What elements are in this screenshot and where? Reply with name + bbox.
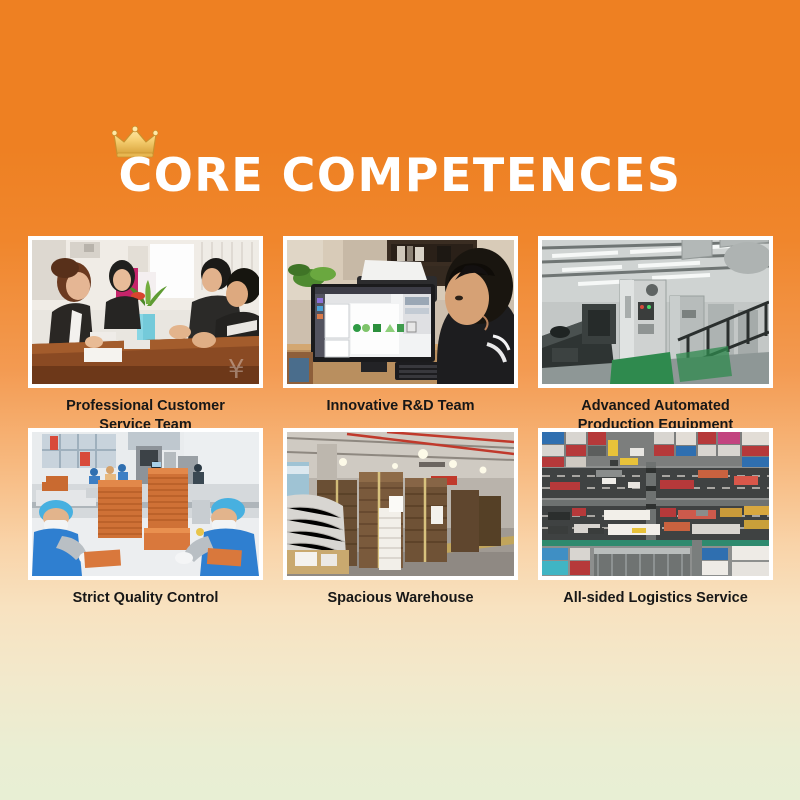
photo-warehouse-stacked-pallets [287, 432, 514, 576]
card-caption: Strict Quality Control [28, 580, 263, 630]
photo-frame: ¥ [28, 236, 263, 388]
photo-meeting-room-team: ¥ [32, 240, 259, 384]
card-caption: All-sided Logistics Service [538, 580, 773, 630]
photo-frame [538, 428, 773, 580]
photo-frame [283, 236, 518, 388]
caption-line-1: Professional Customer [28, 397, 263, 416]
photo-qc-workers-inspecting-boxes [32, 432, 259, 576]
competences-grid-row-1: ¥ Professional Customer Service Team [28, 236, 773, 438]
photo-frame [283, 428, 518, 580]
competence-card-all-sided-logistics-service[interactable]: All-sided Logistics Service [538, 428, 773, 630]
competence-card-advanced-automated-production-equipment[interactable]: LAND 800 [538, 236, 773, 438]
competence-card-spacious-warehouse[interactable]: Spacious Warehouse [283, 428, 518, 630]
title-with-crown: CORE COMPETENCES [118, 152, 681, 198]
caption-line-1: All-sided Logistics Service [538, 589, 773, 608]
svg-text:¥: ¥ [228, 355, 245, 384]
caption-line-1: Innovative R&D Team [283, 397, 518, 416]
caption-line-1: Spacious Warehouse [283, 589, 518, 608]
competence-card-innovative-rd-team[interactable]: Innovative R&D Team [283, 236, 518, 438]
page-title: CORE COMPETENCES [118, 152, 681, 198]
card-caption: Spacious Warehouse [283, 580, 518, 630]
photo-aerial-logistics-container-yard [542, 432, 769, 576]
caption-line-1: Advanced Automated [538, 397, 773, 416]
caption-line-1: Strict Quality Control [28, 589, 263, 608]
competence-card-strict-quality-control[interactable]: Strict Quality Control [28, 428, 263, 630]
photo-frame: LAND 800 [538, 236, 773, 388]
banner-header: CORE COMPETENCES [0, 152, 800, 198]
competence-card-professional-customer-service-team[interactable]: ¥ Professional Customer Service Team [28, 236, 263, 438]
competences-grid-row-2: Strict Quality Control [28, 428, 773, 630]
photo-printing-press-machinery: LAND 800 [542, 240, 769, 384]
photo-frame [28, 428, 263, 580]
photo-designer-at-computer [287, 240, 514, 384]
